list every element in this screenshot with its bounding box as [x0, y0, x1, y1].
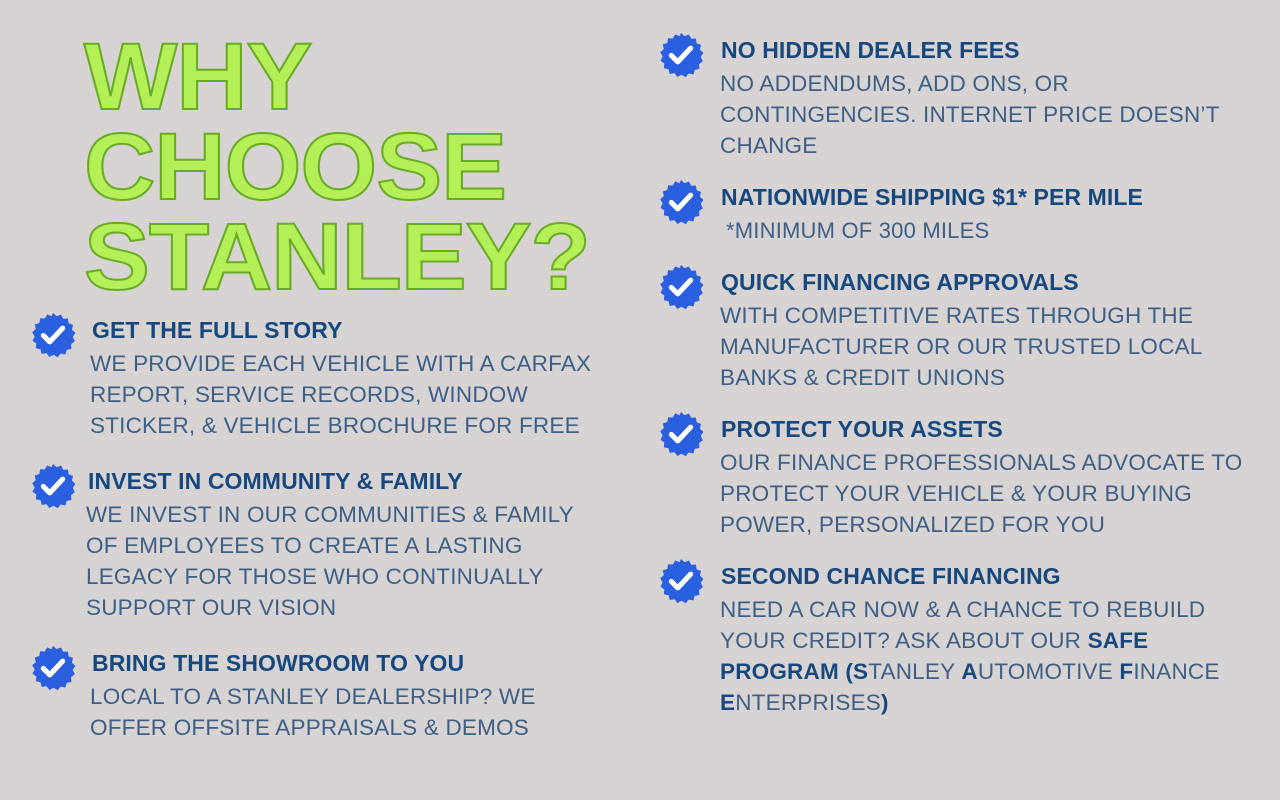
- benefits-column-right: NO HIDDEN DEALER FEES NO ADDENDUMS, ADD …: [658, 32, 1258, 736]
- benefit-text: NO ADDENDUMS, ADD ONS, OR CONTINGENCIES.…: [720, 68, 1258, 161]
- benefit-item: GET THE FULL STORY WE PROVIDE EACH VEHIC…: [30, 312, 610, 441]
- benefit-item: NATIONWIDE SHIPPING $1* PER MILE *MINIMU…: [658, 179, 1258, 246]
- page-title: WHY CHOOSE STANLEY?: [84, 22, 604, 292]
- benefit-title: QUICK FINANCING APPROVALS: [720, 264, 1258, 300]
- verified-check-badge-icon: [30, 645, 76, 691]
- benefits-column-left: GET THE FULL STORY WE PROVIDE EACH VEHIC…: [30, 312, 610, 765]
- benefit-item: QUICK FINANCING APPROVALS WITH COMPETITI…: [658, 264, 1258, 393]
- headline-line-3: STANLEY?: [84, 202, 625, 292]
- benefit-text: OUR FINANCE PROFESSIONALS ADVOCATE TO PR…: [720, 447, 1258, 540]
- benefit-item: BRING THE SHOWROOM TO YOU LOCAL TO A STA…: [30, 645, 610, 743]
- verified-check-badge-icon: [658, 179, 704, 225]
- benefit-item: SECOND CHANCE FINANCING NEED A CAR NOW &…: [658, 558, 1258, 718]
- verified-check-badge-icon: [658, 411, 704, 457]
- benefit-title: NATIONWIDE SHIPPING $1* PER MILE: [720, 179, 1258, 215]
- benefit-title: BRING THE SHOWROOM TO YOU: [90, 645, 610, 681]
- verified-check-badge-icon: [658, 558, 704, 604]
- headline-line-2: CHOOSE: [84, 112, 625, 202]
- benefit-title: SECOND CHANCE FINANCING: [720, 558, 1258, 594]
- benefit-text: LOCAL TO A STANLEY DEALERSHIP? WE OFFER …: [90, 681, 610, 743]
- benefit-text: WE PROVIDE EACH VEHICLE WITH A CARFAX RE…: [90, 348, 610, 441]
- benefit-text: NEED A CAR NOW & A CHANCE TO REBUILD YOU…: [720, 594, 1258, 718]
- verified-check-badge-icon: [30, 463, 76, 509]
- verified-check-badge-icon: [658, 32, 704, 78]
- headline-line-1: WHY: [84, 22, 625, 112]
- benefit-text: WITH COMPETITIVE RATES THROUGH THE MANUF…: [720, 300, 1258, 393]
- verified-check-badge-icon: [658, 264, 704, 310]
- benefit-title: INVEST IN COMMUNITY & FAMILY: [86, 463, 610, 499]
- benefit-text: WE INVEST IN OUR COMMUNITIES & FAMILY OF…: [86, 499, 610, 623]
- verified-check-badge-icon: [30, 312, 76, 358]
- benefit-footnote: *MINIMUM OF 300 MILES: [720, 215, 1258, 246]
- why-choose-stanley-poster: WHY CHOOSE STANLEY? GET THE FULL STORY W…: [0, 0, 1280, 800]
- benefit-item: INVEST IN COMMUNITY & FAMILY WE INVEST I…: [30, 463, 610, 623]
- benefit-item: PROTECT YOUR ASSETS OUR FINANCE PROFESSI…: [658, 411, 1258, 540]
- benefit-title: GET THE FULL STORY: [90, 312, 610, 348]
- benefit-title: NO HIDDEN DEALER FEES: [720, 32, 1258, 68]
- benefit-item: NO HIDDEN DEALER FEES NO ADDENDUMS, ADD …: [658, 32, 1258, 161]
- benefit-title: PROTECT YOUR ASSETS: [720, 411, 1258, 447]
